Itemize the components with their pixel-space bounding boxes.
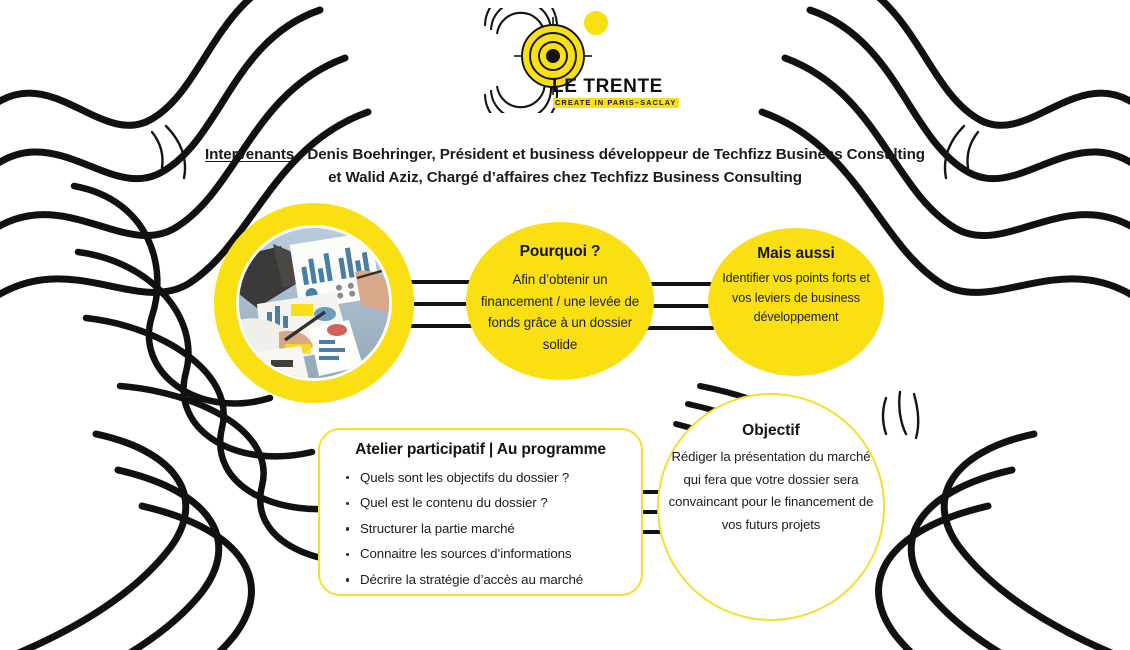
speakers-line-1: Intervenants : Denis Boehringer, Préside… [130,143,1000,166]
le-trente-logo: LE TRENTE CREATE IN PARIS–SACLAY [483,8,663,113]
node-objectif-body: Rédiger la présentation du marché qui fe… [668,446,874,537]
slide-canvas: LE TRENTE CREATE IN PARIS–SACLAY Interve… [0,0,1130,650]
list-item: Quel est le contenu du dossier ? [343,491,627,517]
speakers-text-1: Denis Boehringer, Président et business … [307,146,925,163]
list-item: Décrire la stratégie d’accès au marché [343,567,627,593]
photo-circle-node [214,203,414,403]
list-item: Structurer la partie marché [343,516,627,542]
list-item: Connaitre les sources d’informations [343,542,627,568]
list-item: Quels sont les objectifs du dossier ? [343,465,627,491]
node-objectif: Objectif Rédiger la présentation du marc… [657,393,885,621]
node-pourquoi-body: Afin d’obtenir un financement / une levé… [476,269,644,356]
node-objectif-title: Objectif [742,422,800,440]
business-documents-charts-meeting-photo [236,225,392,381]
speakers-header: Intervenants : Denis Boehringer, Préside… [130,143,1000,189]
connector-pourquoi-to-maisaussi [646,282,714,330]
yellow-dot [584,11,608,35]
speakers-label: Intervenants [205,146,294,163]
node-pourquoi: Pourquoi ? Afin d’obtenir un financement… [466,222,654,380]
logo-tagline: CREATE IN PARIS–SACLAY [553,98,679,108]
node-programme: Atelier participatif | Au programme Quel… [318,428,643,596]
speakers-line-2: et Walid Aziz, Chargé d’affaires chez Te… [130,166,1000,189]
programme-list: Quels sont les objectifs du dossier ? Qu… [334,465,627,593]
speakers-separator: : [294,146,307,163]
node-mais-aussi-body: Identifier vos points forts et vos levie… [716,269,876,328]
node-mais-aussi-title: Mais aussi [757,245,834,263]
node-programme-title: Atelier participatif | Au programme [334,441,627,459]
node-mais-aussi: Mais aussi Identifier vos points forts e… [708,228,884,376]
node-pourquoi-title: Pourquoi ? [520,243,601,261]
logo-wordmark: LE TRENTE [552,77,663,96]
